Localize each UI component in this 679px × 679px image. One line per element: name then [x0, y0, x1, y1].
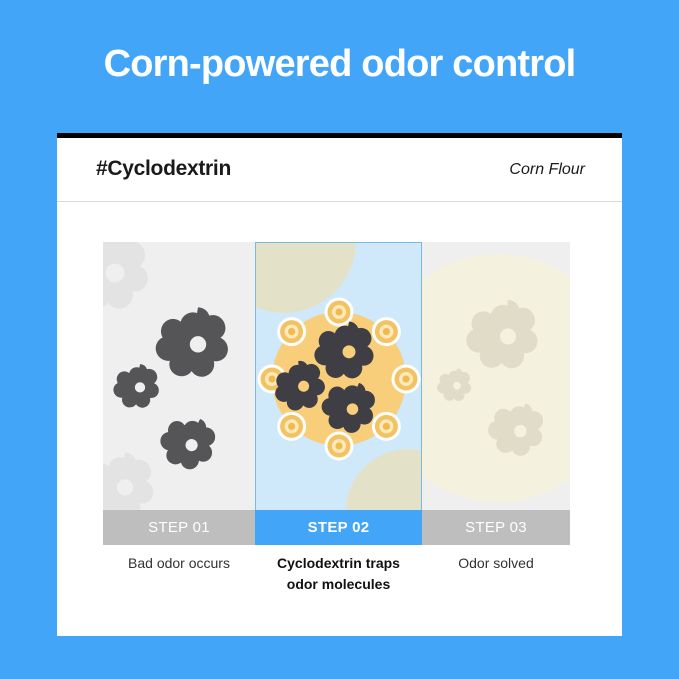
- illustration-panel-step-01: [103, 242, 255, 510]
- caption-step-01: Bad odor occurs: [103, 553, 255, 574]
- caption-step-03: Odor solved: [422, 553, 570, 574]
- step-label-step-02[interactable]: STEP 02: [255, 510, 422, 545]
- page-title: Corn-powered odor control: [0, 38, 679, 90]
- step-label-step-01[interactable]: STEP 01: [103, 510, 255, 545]
- caption-step-02-line1: Cyclodextrin traps: [255, 553, 422, 574]
- illustration-panels: [103, 242, 570, 510]
- illustration-panel-step-02: [255, 242, 422, 510]
- source-ingredient-label: Corn Flour: [509, 161, 585, 179]
- infographic-card: #Cyclodextrin Corn Flour: [57, 133, 622, 636]
- hashtag-label: #Cyclodextrin: [96, 157, 231, 181]
- caption-step-02: Cyclodextrin traps odor molecules: [255, 553, 422, 595]
- step-captions: Bad odor occurs Cyclodextrin traps odor …: [103, 553, 570, 595]
- step-label-step-03[interactable]: STEP 03: [422, 510, 570, 545]
- odor-molecule-small: [113, 364, 158, 408]
- odor-molecule-medium: [154, 409, 221, 475]
- step-02-illustration: [256, 243, 422, 510]
- corn-blob-bottom-right: [346, 449, 422, 510]
- caption-step-02-line2: odor molecules: [255, 574, 422, 595]
- step-progress-bar: STEP 01 STEP 02 STEP 03: [103, 510, 570, 545]
- cyclodextrin-capsule: [258, 298, 421, 461]
- odor-molecule-group: [113, 307, 228, 474]
- step-03-illustration: [422, 242, 570, 510]
- card-header: #Cyclodextrin Corn Flour: [57, 138, 622, 202]
- illustration-panel-step-03: [422, 242, 570, 510]
- odor-molecule-large: [156, 307, 228, 376]
- step-01-illustration: [103, 242, 255, 510]
